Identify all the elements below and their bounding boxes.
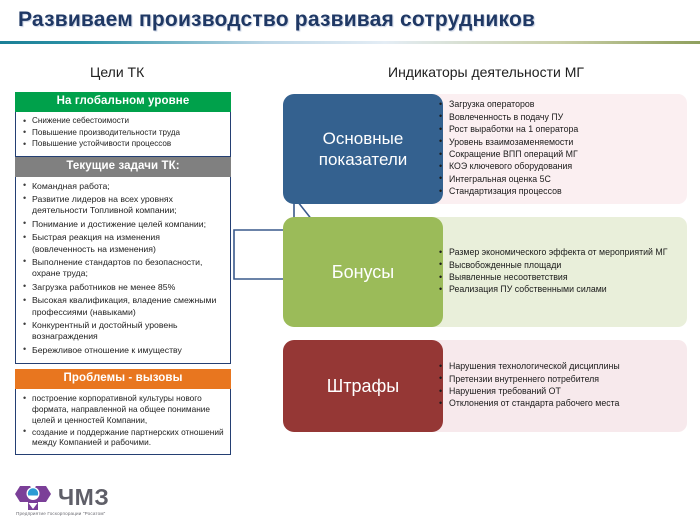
list-item: Нарушения требований ОТ bbox=[438, 386, 679, 397]
goals-block-current-header: Текущие задачи ТК: bbox=[15, 157, 231, 177]
goals-block-global: На глобальном уровне Снижение себестоимо… bbox=[15, 92, 231, 157]
logo-wordmark: ЧМЗ bbox=[58, 484, 109, 510]
goals-block-problems: Проблемы - вызовы построение корпоративн… bbox=[15, 369, 231, 455]
list-item: Сокращение ВПП операций МГ bbox=[438, 149, 679, 160]
right-column-caption: Индикаторы деятельности МГ bbox=[388, 64, 584, 80]
indicator-list-bonus: Размер экономического эффекта от меропри… bbox=[438, 217, 679, 327]
title-divider bbox=[0, 41, 700, 44]
list-item: Повышение устойчивости процессов bbox=[21, 139, 225, 150]
list-item: Уровень взаимозаменяемости bbox=[438, 137, 679, 148]
indicator-row-bonus: Бонусы Размер экономического эффекта от … bbox=[283, 217, 687, 327]
list-item: Конкурентный и достойный уровень вознагр… bbox=[21, 320, 225, 343]
list-item: Развитие лидеров на всех уровнях деятель… bbox=[21, 194, 225, 217]
list-item: Выполнение стандартов по безопасности, о… bbox=[21, 257, 225, 280]
list-item: построение корпоративной культуры нового… bbox=[21, 393, 225, 425]
list-item: Высокая квалификация, владение смежными … bbox=[21, 295, 225, 318]
list-item: Рост выработки на 1 оператора bbox=[438, 124, 679, 135]
indicators-column: Основные показатели Загрузка операторов … bbox=[283, 94, 687, 432]
logo-subtitle: Предприятие Госкорпорации "Росатом" bbox=[16, 511, 105, 516]
goals-column: На глобальном уровне Снижение себестоимо… bbox=[15, 92, 231, 455]
indicator-list-main: Загрузка операторов Вовлеченность в пода… bbox=[438, 94, 679, 204]
list-item: Интегральная оценка 5С bbox=[438, 174, 679, 185]
list-item: Выявленные несоответствия bbox=[438, 272, 679, 283]
goals-block-problems-body: построение корпоративной культуры нового… bbox=[15, 389, 231, 455]
list-item: Отклонения от стандарта рабочего места bbox=[438, 398, 679, 409]
list-item: Загрузка операторов bbox=[438, 99, 679, 110]
left-column-caption: Цели ТК bbox=[90, 64, 144, 80]
company-logo: ЧМЗ Предприятие Госкорпорации "Росатом" bbox=[14, 484, 184, 520]
list-item: Высвобожденные площади bbox=[438, 260, 679, 271]
goals-block-global-header: На глобальном уровне bbox=[15, 92, 231, 112]
list-item: Стандартизация процессов bbox=[438, 186, 679, 197]
chmz-hexagon-icon bbox=[14, 484, 52, 512]
list-item: Понимание и достижение целей компании; bbox=[21, 219, 225, 230]
indicator-label-main[interactable]: Основные показатели bbox=[283, 94, 443, 204]
goals-block-problems-header: Проблемы - вызовы bbox=[15, 369, 231, 389]
list-item: Загрузка работников не менее 85% bbox=[21, 282, 225, 293]
indicator-label-penalty[interactable]: Штрафы bbox=[283, 340, 443, 432]
list-item: создание и поддержание партнерских отнош… bbox=[21, 427, 225, 449]
goals-block-current: Текущие задачи ТК: Командная работа; Раз… bbox=[15, 157, 231, 365]
list-item: Вовлеченность в подачу ПУ bbox=[438, 112, 679, 123]
list-item: Снижение себестоимости bbox=[21, 116, 225, 127]
indicator-label-bonus[interactable]: Бонусы bbox=[283, 217, 443, 327]
list-item: Реализация ПУ собственными силами bbox=[438, 284, 679, 295]
list-item: Бережливое отношение к имуществу bbox=[21, 345, 225, 356]
indicator-row-main: Основные показатели Загрузка операторов … bbox=[283, 94, 687, 204]
goals-block-global-body: Снижение себестоимости Повышение произво… bbox=[15, 112, 231, 157]
list-item: КОЭ ключевого оборудования bbox=[438, 161, 679, 172]
list-item: Размер экономического эффекта от меропри… bbox=[438, 247, 679, 258]
page-title: Развиваем производство развивая сотрудни… bbox=[18, 8, 535, 32]
list-item: Нарушения технологической дисциплины bbox=[438, 361, 679, 372]
list-item: Командная работа; bbox=[21, 181, 225, 192]
indicator-row-penalty: Штрафы Нарушения технологической дисципл… bbox=[283, 340, 687, 432]
list-item: Повышение производительности труда bbox=[21, 128, 225, 139]
goals-block-current-body: Командная работа; Развитие лидеров на вс… bbox=[15, 177, 231, 365]
list-item: Претензии внутреннего потребителя bbox=[438, 374, 679, 385]
indicator-list-penalty: Нарушения технологической дисциплины Пре… bbox=[438, 340, 679, 432]
list-item: Быстрая реакция на изменения (вовлеченно… bbox=[21, 232, 225, 255]
